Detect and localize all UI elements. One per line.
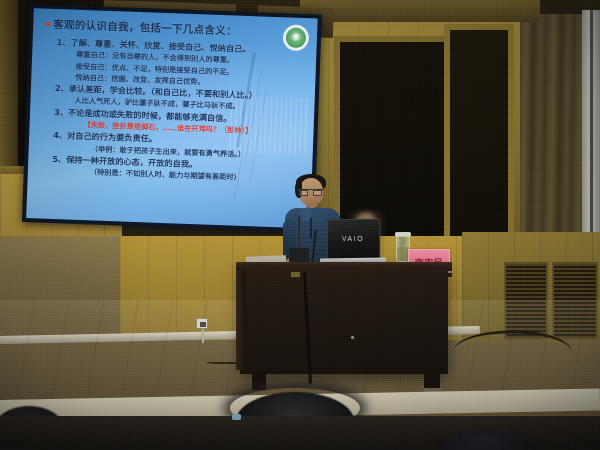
bullet-dot-icon	[45, 22, 50, 27]
screen-surface: ✺ 客观的认识自我，包括一下几点含义： 1、了解、尊重、关怀、欣赏、接受自己、悦…	[26, 8, 318, 228]
shirt-placket	[310, 218, 312, 238]
doorway-frame-left	[334, 36, 452, 240]
recess-frame-left	[0, 0, 18, 176]
desk-microphone-base	[289, 248, 309, 262]
outlet-slot	[200, 322, 206, 327]
window-mullion	[590, 10, 593, 236]
school-emblem-icon: ✺	[282, 24, 309, 51]
doorway-frame-right	[444, 24, 514, 240]
window-curtain	[520, 0, 582, 236]
podium-leg-left	[252, 372, 266, 390]
ceiling-valance-right	[300, 0, 540, 22]
laptop-brand-logo: VAIO	[328, 236, 379, 243]
wall-power-outlet	[196, 318, 208, 329]
glasses-lens-right	[313, 190, 322, 196]
outlet-conduit	[202, 329, 204, 343]
slide-title-row: 客观的认识自我，包括一下几点含义：	[45, 17, 281, 41]
audience-hair-clip	[232, 414, 241, 420]
podium-left-edge	[236, 270, 246, 370]
podium-latch	[291, 272, 300, 277]
glasses-lens-left	[299, 190, 308, 196]
podium-screw	[351, 336, 354, 339]
slide-content: 客观的认识自我，包括一下几点含义： 1、了解、尊重、关怀、欣赏、接受自己、悦纳自…	[38, 17, 282, 186]
lecture-hall-photo: ✺ 客观的认识自我，包括一下几点含义： 1、了解、尊重、关怀、欣赏、接受自己、悦…	[0, 0, 600, 450]
desk-microphone-stem	[298, 216, 300, 250]
presenter-glasses-icon	[298, 189, 324, 195]
slide-title: 客观的认识自我，包括一下几点含义：	[53, 17, 237, 39]
podium-body	[240, 266, 448, 374]
emblem-glyph: ✺	[291, 32, 301, 43]
projection-screen: ✺ 客观的认识自我，包括一下几点含义： 1、了解、尊重、关怀、欣赏、接受自己、悦…	[22, 4, 322, 233]
laptop-lid: VAIO	[327, 219, 380, 262]
school-emblem-inner: ✺	[286, 27, 307, 48]
